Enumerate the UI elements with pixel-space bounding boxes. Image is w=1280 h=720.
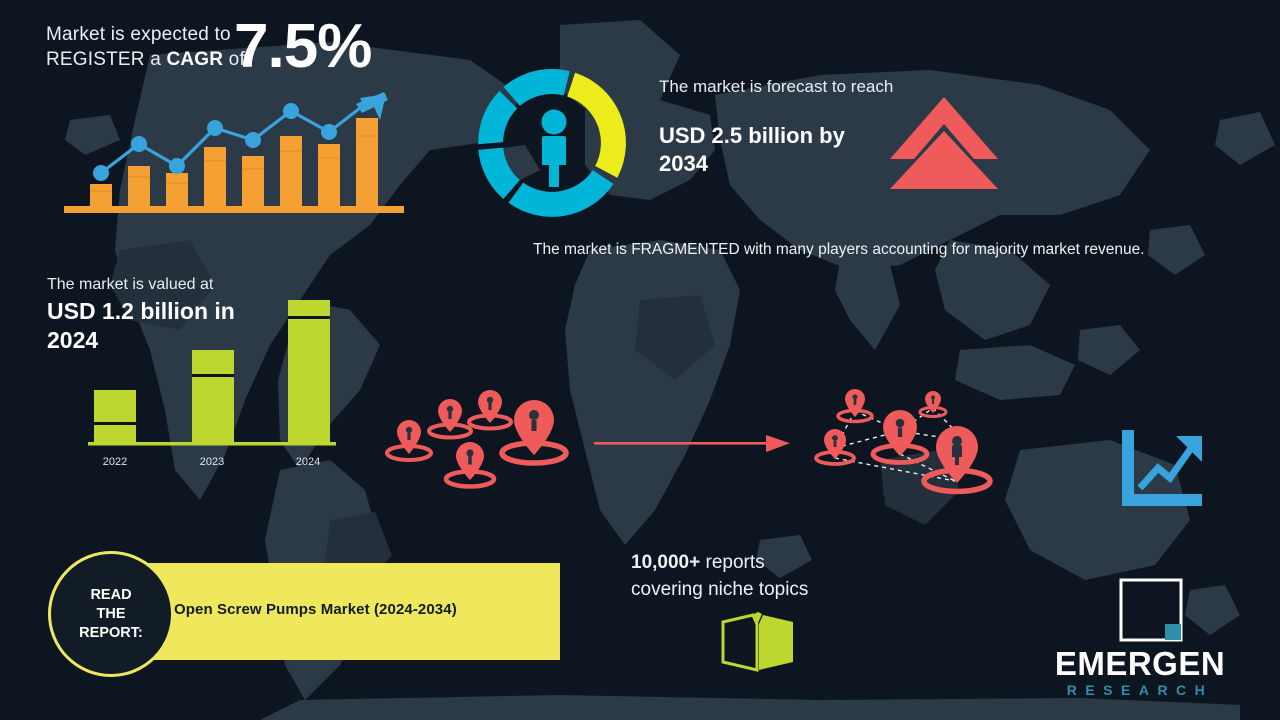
fragmented-market-note: The market is FRAGMENTED with many playe… xyxy=(533,238,1223,262)
cagr-lead-text: Market is expected to REGISTER a CAGR of xyxy=(46,22,246,72)
double-chevron-up-icon xyxy=(888,93,1000,191)
connected-map-pin-network-icon xyxy=(805,386,1015,501)
cagr-lead-line2-pre: REGISTER a xyxy=(46,49,166,70)
logo-brand-name: EMERGEN xyxy=(1020,646,1260,682)
right-arrow-icon xyxy=(594,432,794,456)
infographic-canvas: Market is expected to REGISTER a CAGR of… xyxy=(0,0,1280,720)
growth-bar-chart-icon xyxy=(60,80,420,230)
reports-subtitle: covering niche topics xyxy=(631,579,808,600)
bar-year-label-2024: 2024 xyxy=(284,456,332,468)
forecast-value-text: USD 2.5 billion by 2034 xyxy=(659,122,889,178)
report-title[interactable]: Open Screw Pumps Market (2024-2034) xyxy=(174,601,457,618)
logo-brand-subtitle: RESEARCH xyxy=(1020,682,1260,698)
square-chart-logo-mark xyxy=(1119,578,1183,642)
bar-year-label-2022: 2022 xyxy=(91,456,139,468)
reports-count-suffix: reports xyxy=(700,552,764,573)
reports-count-value: 10,000+ xyxy=(631,552,700,573)
cagr-lead-line1: Market is expected to xyxy=(46,24,231,45)
read-the-report-badge[interactable]: READ THE REPORT: xyxy=(48,551,174,677)
read-the-report-label: READ THE REPORT: xyxy=(79,586,143,643)
donut-chart-with-person-icon xyxy=(462,55,647,235)
map-pin-cluster-icon xyxy=(382,386,577,496)
reports-count-text: 10,000+ reports covering niche topics xyxy=(631,549,891,603)
bar-year-label-2023: 2023 xyxy=(188,456,236,468)
open-book-icon xyxy=(720,612,796,674)
forecast-lead-text: The market is forecast to reach xyxy=(659,75,894,98)
line-chart-arrow-up-icon xyxy=(1118,428,1206,512)
market-value-bar-chart xyxy=(70,292,360,452)
cagr-value: 7.5% xyxy=(234,16,371,78)
cagr-keyword: CAGR xyxy=(166,49,223,70)
